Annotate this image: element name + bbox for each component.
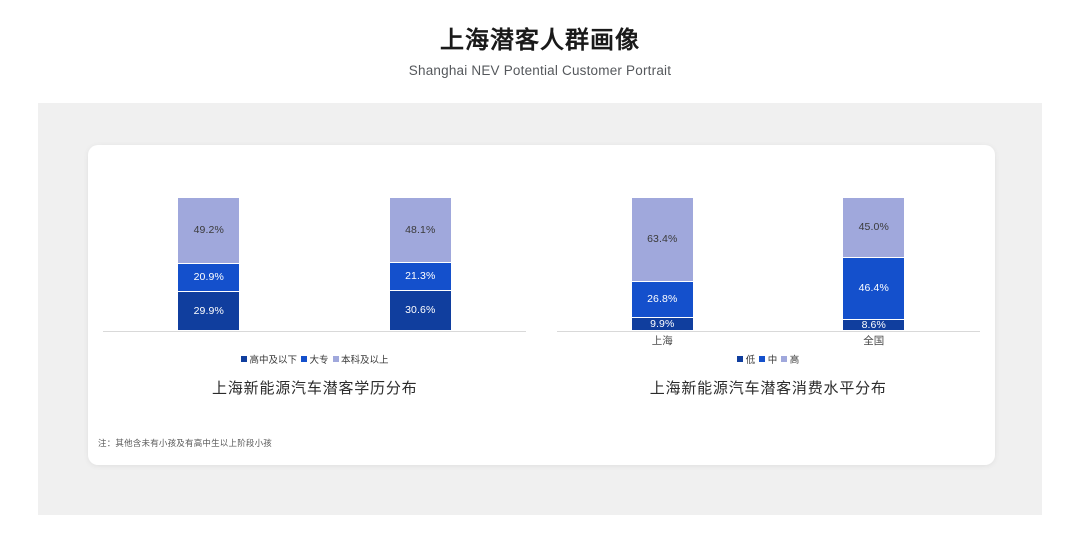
category-labels-consumption: 上海 全国 (557, 333, 980, 348)
bar-segment-high[interactable]: 63.4% (631, 197, 694, 281)
legend-label: 大专 (309, 352, 328, 366)
bar-segment-low[interactable]: 29.9% (177, 291, 240, 331)
axis-baseline (557, 331, 980, 332)
category-label-shanghai: 上海 (557, 333, 769, 348)
plot-area-education: 49.2% 20.9% 29.9% 48.1% 21.3% 30.6% (88, 145, 542, 332)
bars-consumption: 63.4% 26.8% 9.9% 45.0% 46.4% 8.6% (557, 145, 980, 331)
slide-panel: 49.2% 20.9% 29.9% 48.1% 21.3% 30.6% (38, 103, 1042, 515)
legend-label: 高 (790, 352, 800, 366)
legend-item[interactable]: 本科及以上 (333, 352, 389, 366)
page-header: 上海潜客人群画像 Shanghai NEV Potential Customer… (0, 0, 1080, 78)
legend-swatch-icon (759, 356, 765, 362)
chart-caption-consumption: 上海新能源汽车潜客消费水平分布 (542, 377, 996, 398)
category-label-national: 全国 (768, 333, 980, 348)
stacked-bar[interactable]: 49.2% 20.9% 29.9% (177, 197, 240, 331)
bar-segment-low[interactable]: 9.9% (631, 317, 694, 331)
bar-segment-high[interactable]: 45.0% (842, 197, 905, 257)
bar-column: 45.0% 46.4% 8.6% (768, 145, 980, 331)
bar-segment-mid[interactable]: 20.9% (177, 263, 240, 291)
legend-label: 中 (768, 352, 778, 366)
legend-item[interactable]: 中 (759, 352, 777, 366)
bar-segment-mid[interactable]: 26.8% (631, 281, 694, 317)
legend-item[interactable]: 大专 (301, 352, 329, 366)
bars-education: 49.2% 20.9% 29.9% 48.1% 21.3% 30.6% (103, 145, 526, 331)
bar-segment-mid[interactable]: 46.4% (842, 257, 905, 319)
chart-education: 49.2% 20.9% 29.9% 48.1% 21.3% 30.6% (88, 145, 542, 415)
bar-column: 49.2% 20.9% 29.9% (103, 145, 315, 331)
legend-item[interactable]: 低 (737, 352, 755, 366)
bar-segment-mid[interactable]: 21.3% (389, 262, 452, 290)
legend-swatch-icon (781, 356, 787, 362)
bar-column: 48.1% 21.3% 30.6% (315, 145, 527, 331)
legend-label: 低 (746, 352, 756, 366)
legend-swatch-icon (241, 356, 247, 362)
legend-education: 高中及以下 大专 本科及以上 (88, 352, 542, 366)
stacked-bar[interactable]: 45.0% 46.4% 8.6% (842, 197, 905, 331)
charts-row: 49.2% 20.9% 29.9% 48.1% 21.3% 30.6% (88, 145, 995, 415)
bar-segment-high[interactable]: 48.1% (389, 197, 452, 262)
legend-label: 本科及以上 (341, 352, 389, 366)
bar-segment-low[interactable]: 8.6% (842, 319, 905, 331)
legend-item[interactable]: 高中及以下 (241, 352, 297, 366)
legend-consumption: 低 中 高 (542, 352, 996, 366)
axis-baseline (103, 331, 526, 332)
page-title: 上海潜客人群画像 (0, 0, 1080, 56)
chart-caption-education: 上海新能源汽车潜客学历分布 (88, 377, 542, 398)
footnote: 注：其他含未有小孩及有高中生以上阶段小孩 (98, 437, 272, 449)
legend-label: 高中及以下 (249, 352, 297, 366)
legend-swatch-icon (737, 356, 743, 362)
page-subtitle: Shanghai NEV Potential Customer Portrait (0, 56, 1080, 78)
content-card: 49.2% 20.9% 29.9% 48.1% 21.3% 30.6% (88, 145, 995, 465)
legend-swatch-icon (333, 356, 339, 362)
bar-segment-high[interactable]: 49.2% (177, 197, 240, 263)
plot-area-consumption: 63.4% 26.8% 9.9% 45.0% 46.4% 8.6% (542, 145, 996, 332)
stacked-bar[interactable]: 63.4% 26.8% 9.9% (631, 197, 694, 331)
legend-item[interactable]: 高 (781, 352, 799, 366)
bar-segment-low[interactable]: 30.6% (389, 290, 452, 331)
legend-swatch-icon (301, 356, 307, 362)
stacked-bar[interactable]: 48.1% 21.3% 30.6% (389, 197, 452, 331)
bar-column: 63.4% 26.8% 9.9% (557, 145, 769, 331)
chart-consumption: 63.4% 26.8% 9.9% 45.0% 46.4% 8.6% (542, 145, 996, 415)
